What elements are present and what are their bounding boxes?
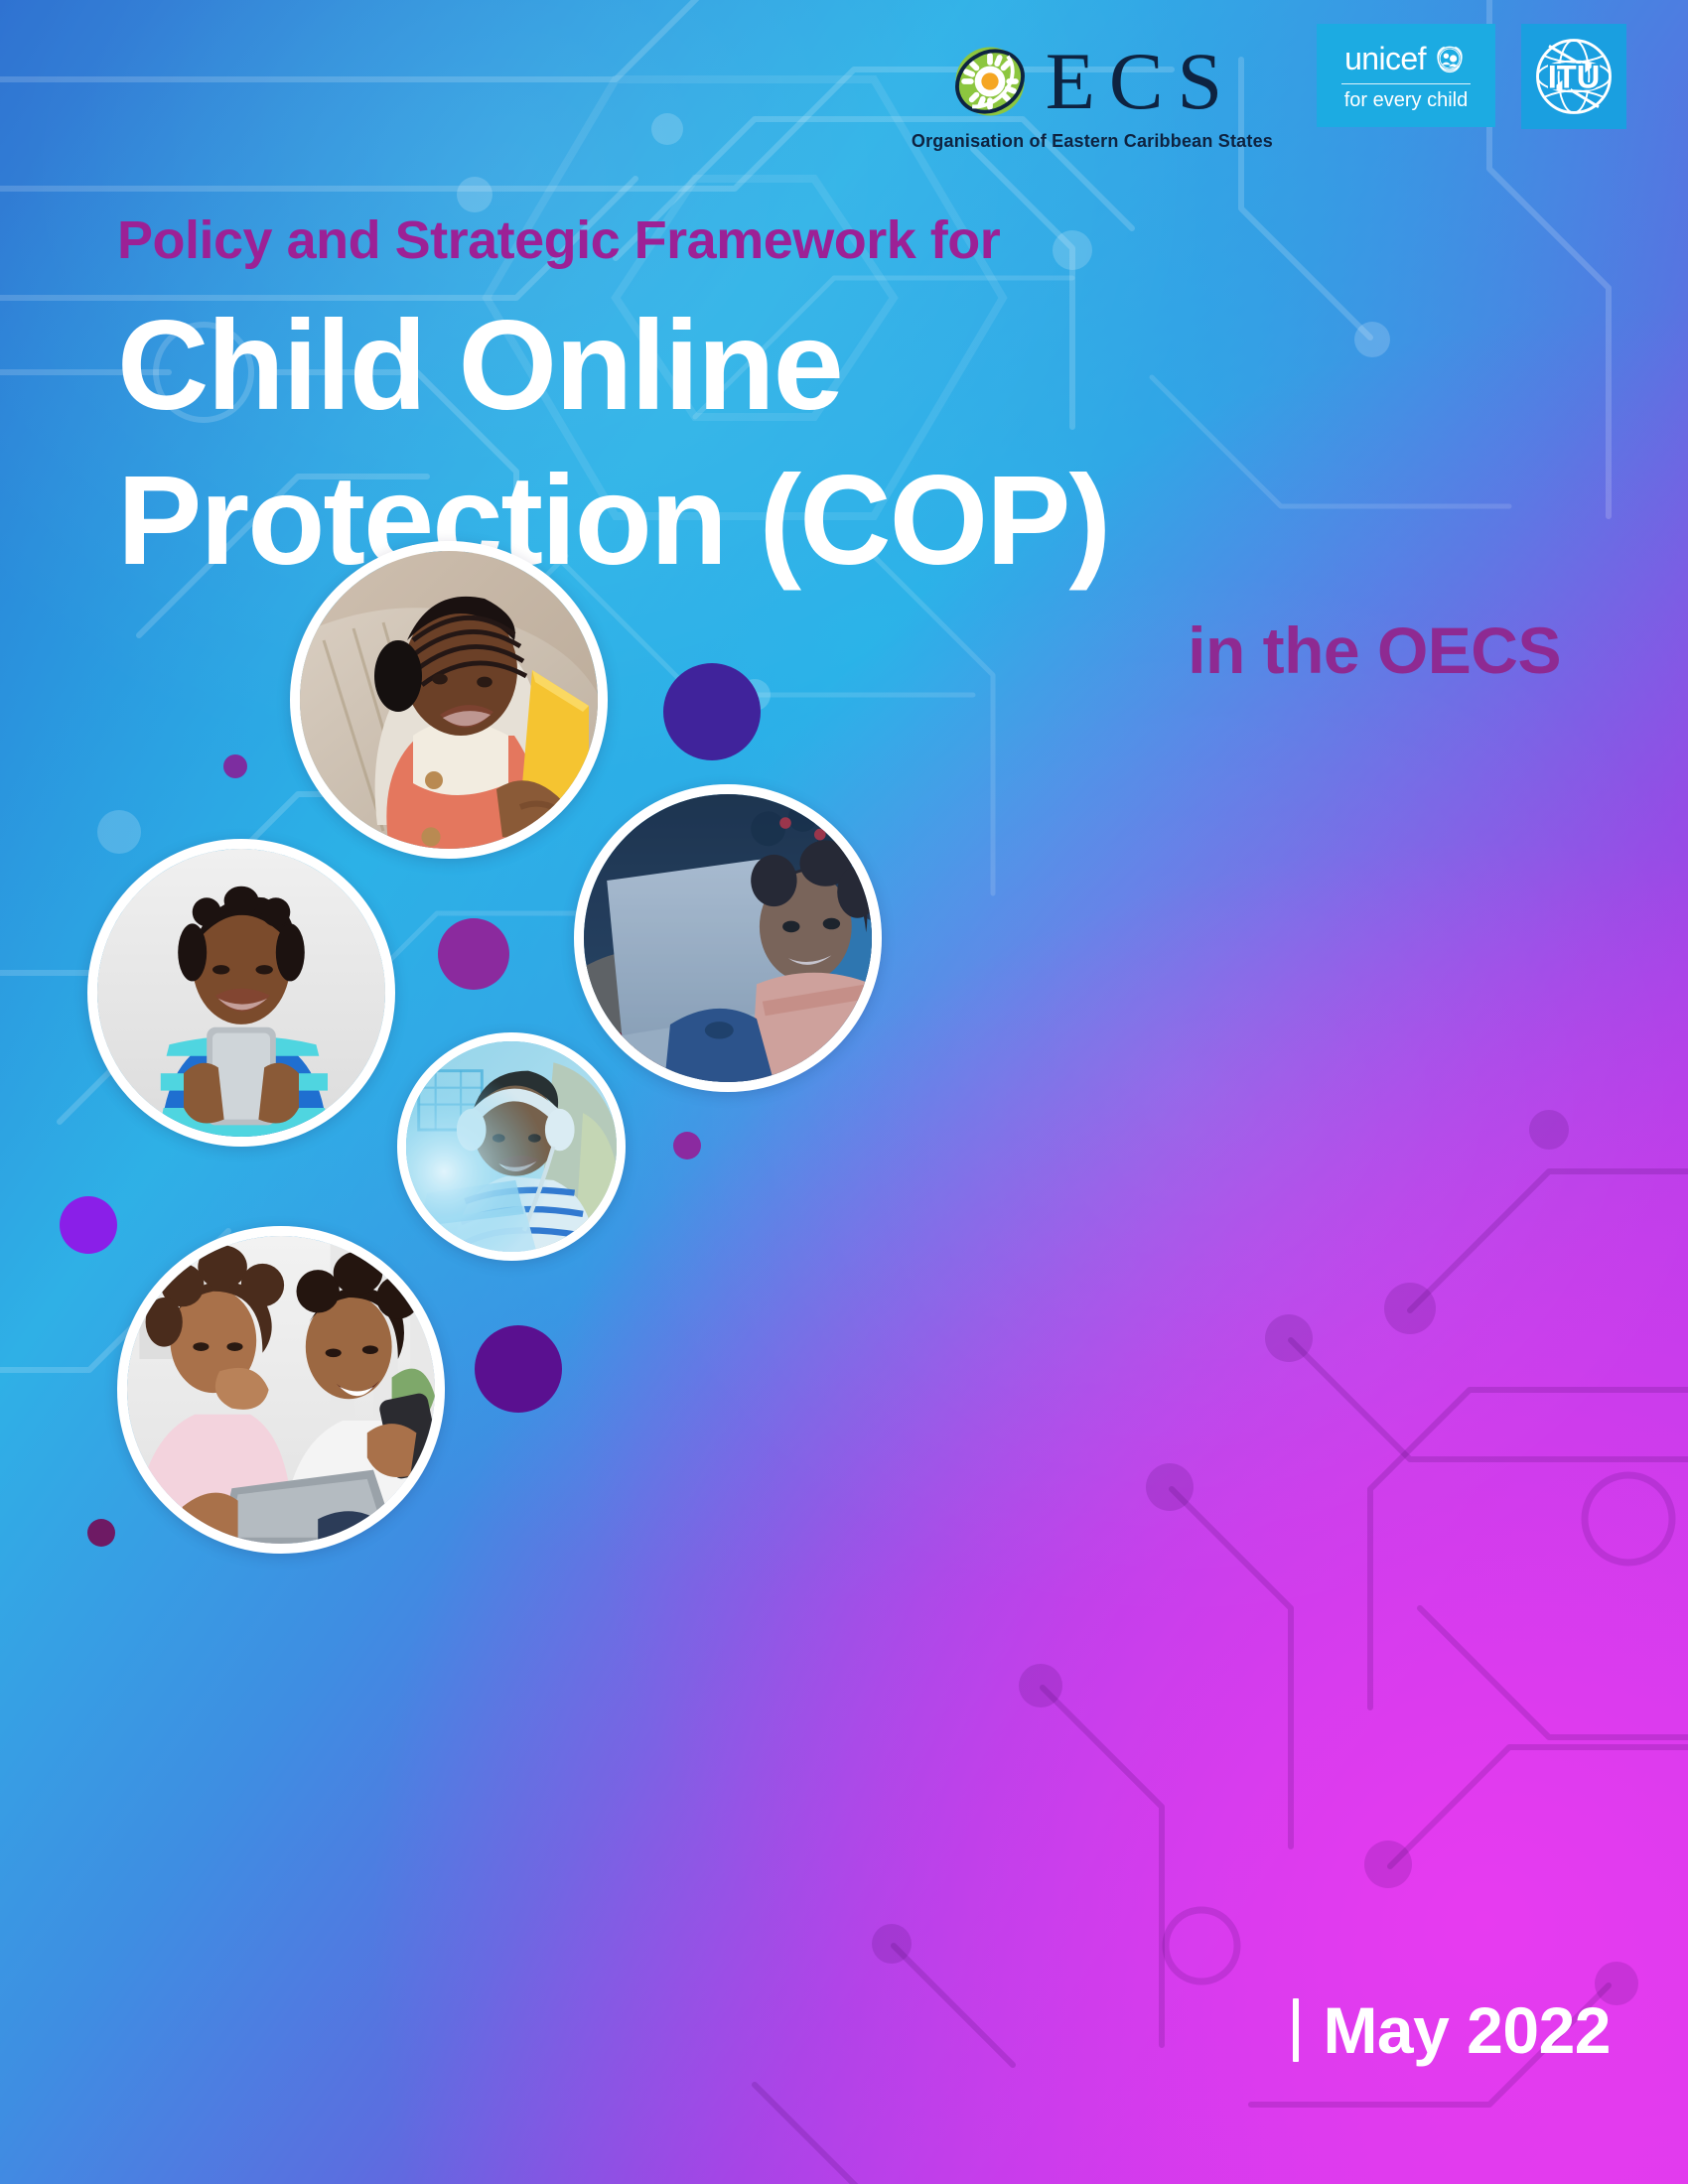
- unicef-tagline: for every child: [1344, 90, 1469, 110]
- dot-plum-small: [673, 1132, 701, 1160]
- dot-purple-dark: [475, 1325, 562, 1413]
- publication-date: May 2022: [1293, 1997, 1611, 2063]
- oecs-wordmark: ECS: [1046, 45, 1242, 118]
- photo-two-children-with-tablet: [117, 1226, 445, 1554]
- date-divider-bar: [1293, 1998, 1299, 2062]
- title-block: Policy and Strategic Framework for Child…: [0, 213, 1688, 688]
- unicef-logo: unicef for every child: [1317, 24, 1495, 127]
- dot-indigo-large: [663, 663, 761, 760]
- title-line-1: Child Online: [117, 295, 842, 437]
- photo-boy-with-smartphone: [87, 839, 395, 1147]
- unicef-emblem-icon: [1432, 41, 1468, 76]
- document-subtitle: Policy and Strategic Framework for: [117, 213, 1571, 267]
- unicef-logo-main: unicef: [1344, 41, 1468, 76]
- svg-text:ITU: ITU: [1548, 59, 1601, 95]
- date-label: May 2022: [1323, 1997, 1611, 2063]
- cover-page: ECS Organisation of Eastern Caribbean St…: [0, 0, 1688, 2184]
- itu-globe-icon: ITU: [1526, 29, 1621, 124]
- oecs-emblem-icon: [942, 34, 1038, 129]
- oecs-tagline: Organisation of Eastern Caribbean States: [912, 131, 1273, 152]
- dot-violet-bright: [60, 1196, 117, 1254]
- dot-maroon-small: [87, 1519, 115, 1547]
- unicef-wordmark: unicef: [1344, 43, 1426, 74]
- partner-logos: ECS Organisation of Eastern Caribbean St…: [0, 24, 1688, 163]
- oecs-logo-main: ECS: [942, 34, 1242, 129]
- itu-logo: ITU: [1521, 24, 1626, 129]
- dot-purple-small: [223, 754, 247, 778]
- photo-girl-with-yellow-tablet: [290, 541, 608, 859]
- photo-boy-with-headphones: [397, 1032, 626, 1261]
- oecs-logo: ECS Organisation of Eastern Caribbean St…: [912, 24, 1273, 152]
- photo-girl-with-laptop: [574, 784, 882, 1092]
- dot-purple-medium: [438, 918, 509, 990]
- unicef-divider: [1341, 83, 1471, 85]
